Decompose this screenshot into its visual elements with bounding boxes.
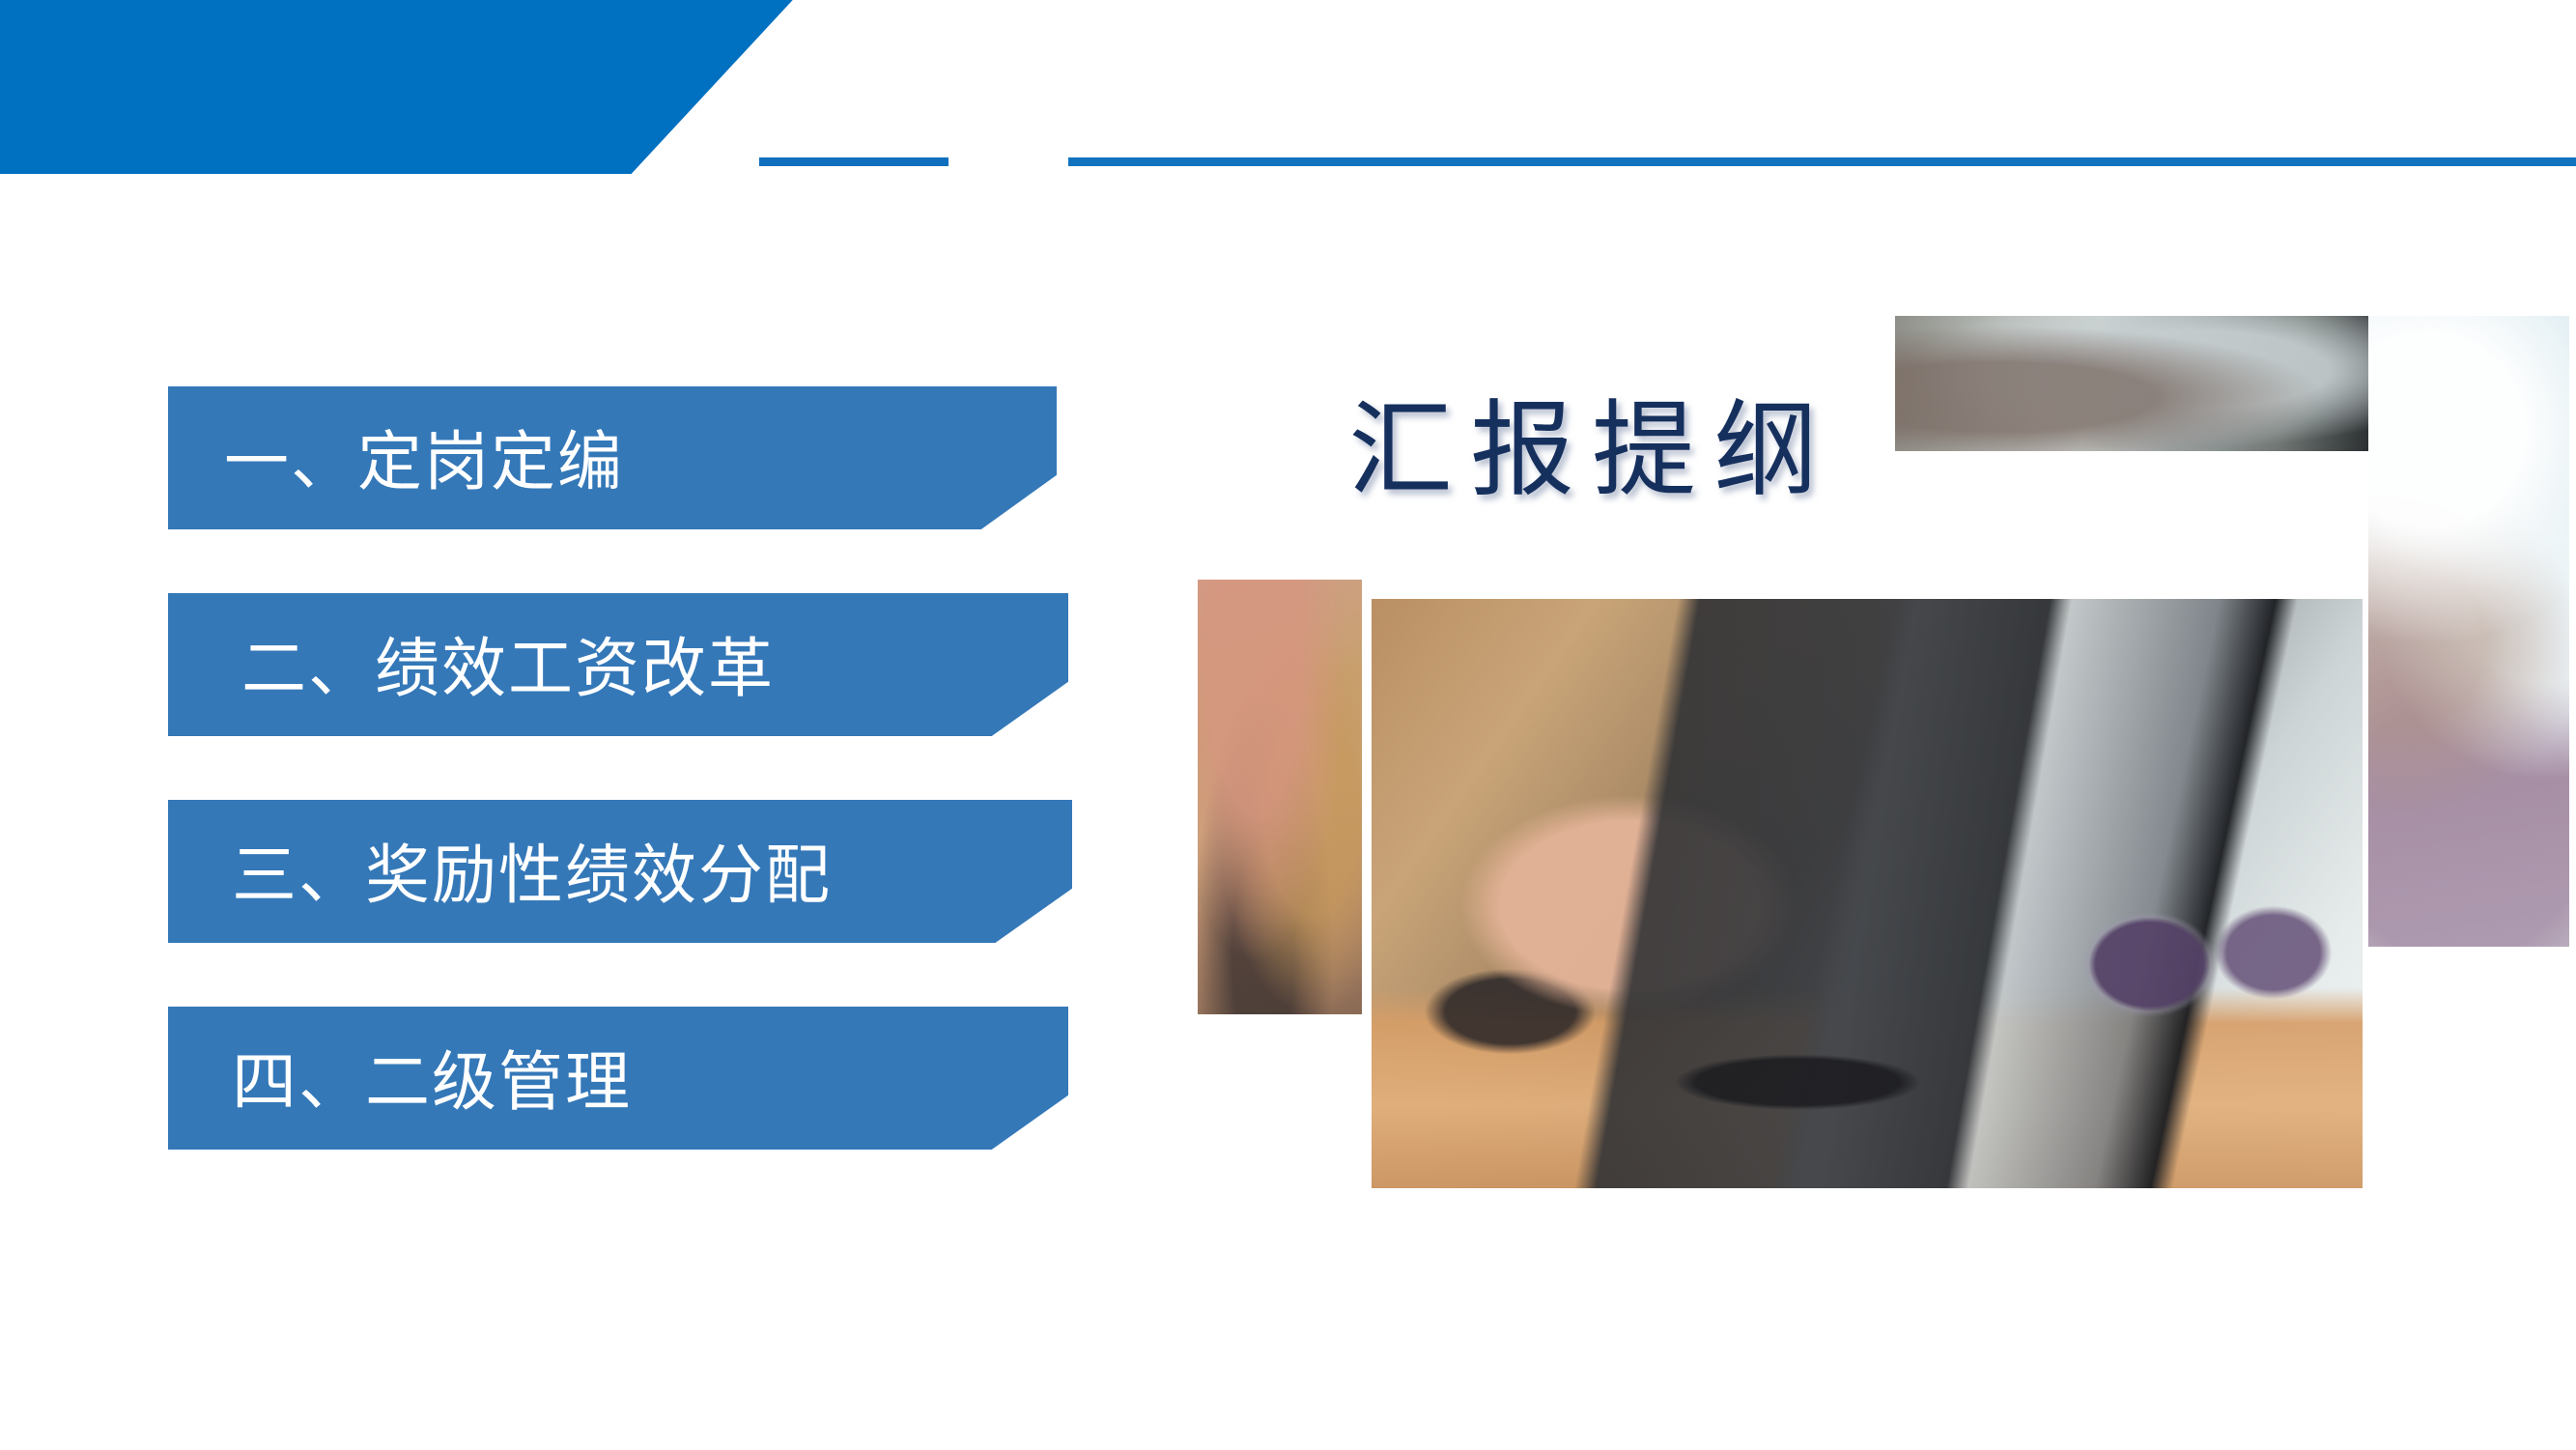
wrist-bracelet-closeup-photo (1198, 580, 1362, 1014)
agenda-item-1[interactable]: 一、 定岗定编 (168, 386, 1057, 529)
agenda-item-1-content: 一、 定岗定编 (168, 430, 624, 495)
page-title: 汇报提纲 (1348, 398, 1835, 502)
agenda-item-2[interactable]: 二、 绩效工资改革 (168, 593, 1068, 736)
hands-typing-on-laptop-photo (1372, 599, 2363, 1188)
agenda-item-4-content: 四、 二级管理 (168, 1050, 632, 1115)
agenda-item-2-index: 二、 (241, 637, 375, 701)
agenda-item-4-label: 二级管理 (365, 1050, 632, 1115)
agenda-item-1-label: 定岗定编 (357, 430, 624, 495)
agenda-item-3-index: 三、 (232, 843, 365, 908)
agenda-item-2-content: 二、 绩效工资改革 (168, 637, 775, 701)
agenda-list: 一、 定岗定编 二、 绩效工资改革 三、 奖励性绩效分配 四、 二级管理 (168, 386, 1076, 1213)
agenda-item-3-label: 奖励性绩效分配 (365, 843, 832, 908)
agenda-item-3-content: 三、 奖励性绩效分配 (168, 843, 832, 908)
agenda-item-2-label: 绩效工资改革 (375, 637, 775, 701)
agenda-item-4-index: 四、 (232, 1050, 365, 1115)
agenda-item-1-index: 一、 (224, 430, 357, 495)
blurred-office-bokeh-photo (2368, 316, 2569, 947)
agenda-item-3[interactable]: 三、 奖励性绩效分配 (168, 800, 1072, 943)
agenda-item-4[interactable]: 四、 二级管理 (168, 1007, 1068, 1150)
laptop-lid-closeup-photo (1895, 316, 2368, 451)
